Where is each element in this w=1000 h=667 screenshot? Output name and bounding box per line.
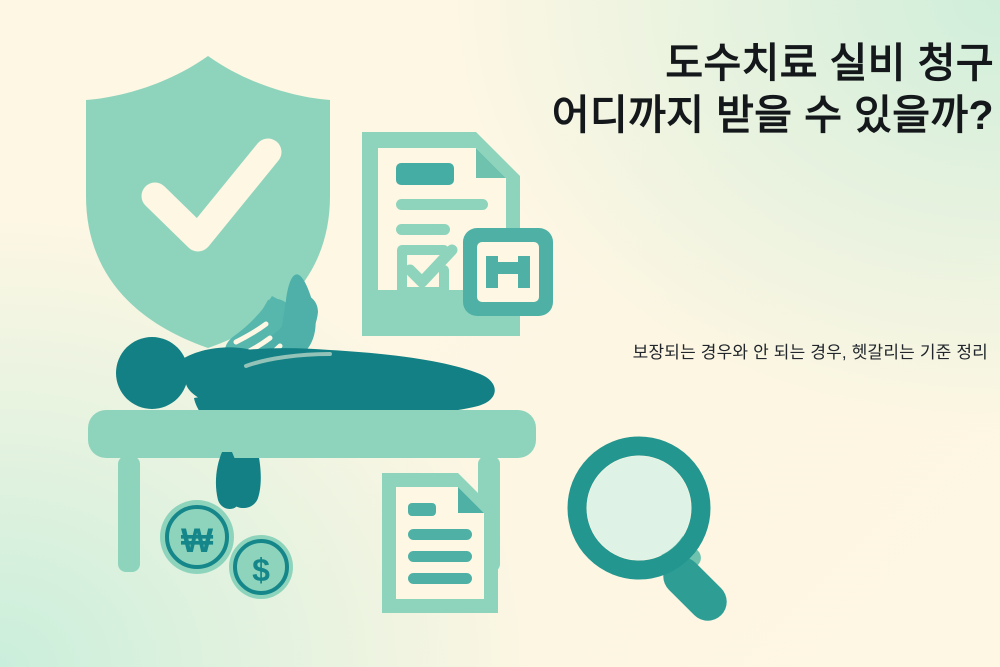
table-leg-left	[118, 456, 140, 572]
banner-canvas: ₩ $ 도수치료 실비 청	[0, 0, 1000, 667]
won-coin-icon: ₩	[160, 500, 234, 574]
doc-line	[408, 551, 472, 562]
clipboard-document-icon	[362, 132, 553, 336]
doc-small-bar	[408, 503, 436, 516]
magnifier-icon	[577, 446, 735, 629]
doc-title-bar	[396, 163, 454, 185]
dollar-coin-icon: $	[229, 535, 293, 599]
title-line-1: 도수치료 실비 청구	[354, 38, 994, 90]
won-symbol: ₩	[181, 522, 214, 560]
doc-line	[408, 529, 472, 540]
doc-line	[408, 573, 472, 584]
doc-line	[396, 224, 450, 235]
doc-line	[396, 199, 488, 210]
title-line-2: 어디까지 받을 수 있을까?	[354, 90, 994, 142]
dollar-symbol: $	[252, 552, 270, 588]
page-subtitle: 보장되는 경우와 안 되는 경우, 헷갈리는 기준 정리	[368, 338, 988, 363]
page-title: 도수치료 실비 청구 어디까지 받을 수 있을까?	[354, 38, 994, 141]
hospital-badge-icon	[463, 228, 553, 316]
